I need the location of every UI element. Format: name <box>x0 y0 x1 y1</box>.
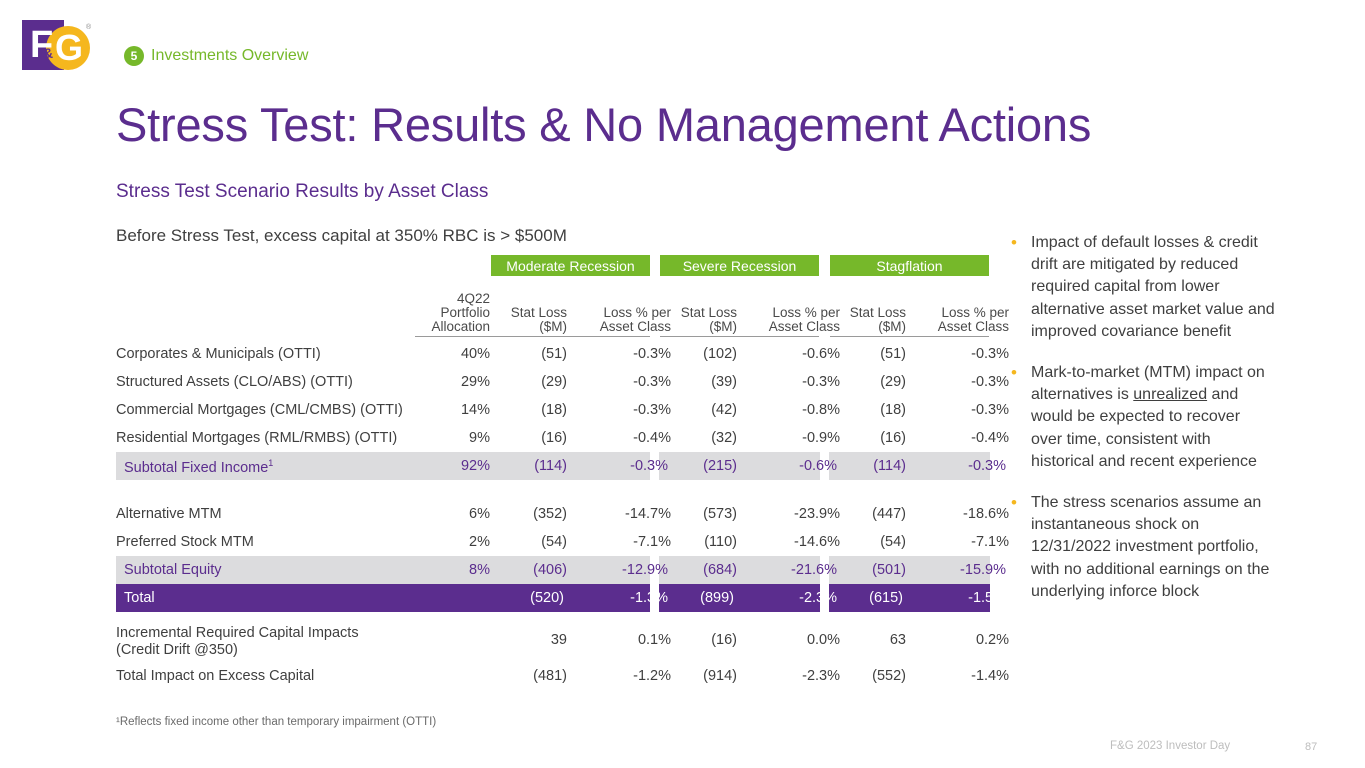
cell-allocation: 40% <box>407 346 490 362</box>
row-spacer <box>116 480 989 500</box>
cell-losspct-1: -0.4% <box>571 430 671 446</box>
statloss-line-1: Stat Loss <box>833 306 906 320</box>
cell-losspct-3: -0.4% <box>909 430 1009 446</box>
cell-statloss-2: (102) <box>664 346 737 362</box>
cell-losspct-3: -1.5% <box>909 590 1009 606</box>
list-item: • Impact of default losses & credit drif… <box>1005 232 1275 343</box>
cell-statloss-3: (51) <box>833 346 906 362</box>
row-label: Alternative MTM <box>116 506 222 522</box>
bullet-dot-icon: • <box>1011 492 1017 514</box>
row-spacer <box>116 612 989 626</box>
cell-losspct-3: -1.4% <box>909 668 1009 684</box>
cell-losspct-1: -0.3% <box>571 458 671 474</box>
row-label-text: Subtotal Fixed Income <box>124 460 268 476</box>
cell-losspct-2: -0.6% <box>740 346 840 362</box>
column-header-allocation: 4Q22 Portfolio Allocation <box>417 292 490 334</box>
cell-statloss-3: (114) <box>833 458 906 474</box>
lede-text: Before Stress Test, excess capital at 35… <box>116 226 567 246</box>
cell-statloss-2: (684) <box>664 562 737 578</box>
registered-trademark-icon: ® <box>86 24 91 31</box>
row-label: Preferred Stock MTM <box>116 534 254 550</box>
cell-statloss-1: (481) <box>494 668 567 684</box>
cell-statloss-1: (520) <box>494 590 567 606</box>
header-rule-3 <box>830 336 989 337</box>
row-label: Total Impact on Excess Capital <box>116 668 314 684</box>
cell-losspct-1: -1.2% <box>571 668 671 684</box>
cell-statloss-2: (16) <box>664 632 737 648</box>
page-title: Stress Test: Results & No Management Act… <box>116 97 1091 152</box>
cell-statloss-3: (447) <box>833 506 906 522</box>
row-label-line-1: Incremental Required Capital Impacts <box>116 625 359 642</box>
cell-losspct-1: -1.3% <box>571 590 671 606</box>
cell-losspct-2: -0.3% <box>740 374 840 390</box>
cell-losspct-2: 0.0% <box>740 632 840 648</box>
cell-statloss-1: (16) <box>494 430 567 446</box>
row-label: Subtotal Equity <box>124 562 222 578</box>
bullet-text-underlined: unrealized <box>1133 386 1207 403</box>
cell-statloss-1: (54) <box>494 534 567 550</box>
table-row-incremental-capital: Incremental Required Capital Impacts (Cr… <box>116 626 989 662</box>
cell-losspct-1: -0.3% <box>571 402 671 418</box>
table-row: Commercial Mortgages (CML/CMBS) (OTTI) 1… <box>116 396 989 424</box>
cell-statloss-2: (39) <box>664 374 737 390</box>
bullet-text-part-1: Impact of default losses & credit drift … <box>1031 234 1275 340</box>
fg-logo: F G & ® <box>22 20 92 70</box>
cell-statloss-3: (29) <box>833 374 906 390</box>
scenario-header-severe: Severe Recession <box>660 255 819 276</box>
header-rule-2 <box>660 336 819 337</box>
row-band-group-1 <box>116 584 650 612</box>
cell-statloss-3: 63 <box>833 632 906 648</box>
cell-statloss-1: (51) <box>494 346 567 362</box>
cell-statloss-2: (899) <box>664 590 737 606</box>
column-header-statloss-2: Stat Loss ($M) <box>664 306 737 334</box>
section-badge: 5 Investments Overview <box>124 46 308 66</box>
column-header-statloss-3: Stat Loss ($M) <box>833 306 906 334</box>
cell-statloss-1: (114) <box>494 458 567 474</box>
table-row: Structured Assets (CLO/ABS) (OTTI) 29% (… <box>116 368 989 396</box>
cell-losspct-3: -0.3% <box>909 458 1009 474</box>
cell-allocation: 8% <box>407 562 490 578</box>
row-label: Commercial Mortgages (CML/CMBS) (OTTI) <box>116 402 403 418</box>
cell-allocation: 9% <box>407 430 490 446</box>
logo-letter-g: G <box>55 29 83 67</box>
cell-losspct-1: -0.3% <box>571 346 671 362</box>
cell-losspct-3: 0.2% <box>909 632 1009 648</box>
column-header-statloss-1: Stat Loss ($M) <box>494 306 567 334</box>
slide: F G & ® 5 Investments Overview Stress Te… <box>0 0 1365 768</box>
row-label: Structured Assets (CLO/ABS) (OTTI) <box>116 374 353 390</box>
cell-losspct-3: -18.6% <box>909 506 1009 522</box>
page-subtitle: Stress Test Scenario Results by Asset Cl… <box>116 181 488 203</box>
column-header-losspct-2: Loss % per Asset Class <box>740 306 840 334</box>
cell-losspct-2: -0.9% <box>740 430 840 446</box>
cell-statloss-3: (18) <box>833 402 906 418</box>
list-item: • The stress scenarios assume an instant… <box>1005 492 1275 603</box>
cell-allocation: 29% <box>407 374 490 390</box>
column-header-losspct-3: Loss % per Asset Class <box>909 306 1009 334</box>
footnote-marker: 1 <box>268 458 273 468</box>
footer-text: F&G 2023 Investor Day <box>1110 740 1230 752</box>
losspct-line-2: Asset Class <box>740 320 840 334</box>
allocation-line-2: Portfolio <box>417 306 490 320</box>
cell-losspct-3: -7.1% <box>909 534 1009 550</box>
cell-statloss-2: (914) <box>664 668 737 684</box>
losspct-line-1: Loss % per <box>909 306 1009 320</box>
footer-page-number: 87 <box>1305 741 1317 753</box>
row-label: Residential Mortgages (RML/RMBS) (OTTI) <box>116 430 397 446</box>
cell-losspct-3: -15.9% <box>909 562 1009 578</box>
cell-losspct-2: -2.3% <box>740 590 840 606</box>
cell-statloss-1: (29) <box>494 374 567 390</box>
losspct-line-2: Asset Class <box>909 320 1009 334</box>
cell-statloss-3: (501) <box>833 562 906 578</box>
footnote: ¹Reflects fixed income other than tempor… <box>116 716 436 728</box>
statloss-line-2: ($M) <box>664 320 737 334</box>
cell-statloss-1: (352) <box>494 506 567 522</box>
table-row-total: Total (520) -1.3% (899) -2.3% (615) -1.5… <box>116 584 989 612</box>
table-row-subtotal-fixed-income: Subtotal Fixed Income1 92% (114) -0.3% (… <box>116 452 989 480</box>
table-row-subtotal-equity: Subtotal Equity 8% (406) -12.9% (684) -2… <box>116 556 989 584</box>
table-row-total-impact: Total Impact on Excess Capital (481) -1.… <box>116 662 989 690</box>
cell-allocation: 14% <box>407 402 490 418</box>
statloss-line-1: Stat Loss <box>664 306 737 320</box>
cell-statloss-1: (406) <box>494 562 567 578</box>
stress-test-table: Moderate Recession Severe Recession Stag… <box>116 255 989 690</box>
cell-statloss-3: (16) <box>833 430 906 446</box>
insights-list: • Impact of default losses & credit drif… <box>1005 232 1275 622</box>
cell-statloss-2: (215) <box>664 458 737 474</box>
cell-losspct-1: -0.3% <box>571 374 671 390</box>
statloss-line-1: Stat Loss <box>494 306 567 320</box>
column-header-row: 4Q22 Portfolio Allocation Stat Loss ($M)… <box>116 280 989 334</box>
column-header-losspct-1: Loss % per Asset Class <box>571 306 671 334</box>
cell-losspct-3: -0.3% <box>909 374 1009 390</box>
cell-statloss-3: (54) <box>833 534 906 550</box>
statloss-line-2: ($M) <box>494 320 567 334</box>
scenario-header-moderate: Moderate Recession <box>491 255 650 276</box>
losspct-line-1: Loss % per <box>571 306 671 320</box>
cell-statloss-3: (615) <box>833 590 906 606</box>
cell-losspct-1: -7.1% <box>571 534 671 550</box>
cell-losspct-2: -2.3% <box>740 668 840 684</box>
cell-statloss-2: (42) <box>664 402 737 418</box>
table-row: Alternative MTM 6% (352) -14.7% (573) -2… <box>116 500 989 528</box>
cell-losspct-2: -14.6% <box>740 534 840 550</box>
section-number: 5 <box>124 46 144 66</box>
header-rule-1 <box>415 336 650 337</box>
table-row: Residential Mortgages (RML/RMBS) (OTTI) … <box>116 424 989 452</box>
cell-statloss-2: (573) <box>664 506 737 522</box>
cell-losspct-3: -0.3% <box>909 346 1009 362</box>
row-label: Total <box>124 590 155 606</box>
losspct-line-1: Loss % per <box>740 306 840 320</box>
section-label: Investments Overview <box>151 47 308 65</box>
cell-losspct-3: -0.3% <box>909 402 1009 418</box>
scenario-header-row: Moderate Recession Severe Recession Stag… <box>116 255 989 276</box>
logo-ampersand: & <box>43 45 53 61</box>
statloss-line-2: ($M) <box>833 320 906 334</box>
cell-losspct-1: 0.1% <box>571 632 671 648</box>
cell-statloss-1: 39 <box>494 632 567 648</box>
list-item: • Mark-to-market (MTM) impact on alterna… <box>1005 362 1275 473</box>
table-row: Preferred Stock MTM 2% (54) -7.1% (110) … <box>116 528 989 556</box>
allocation-line-3: Allocation <box>417 320 490 334</box>
table-row: Corporates & Municipals (OTTI) 40% (51) … <box>116 340 989 368</box>
row-label: Corporates & Municipals (OTTI) <box>116 346 321 362</box>
cell-losspct-1: -14.7% <box>571 506 671 522</box>
scenario-header-stagflation: Stagflation <box>830 255 989 276</box>
row-label: Subtotal Fixed Income1 <box>124 458 273 476</box>
cell-losspct-2: -0.6% <box>740 458 840 474</box>
bullet-dot-icon: • <box>1011 232 1017 254</box>
row-label: Incremental Required Capital Impacts (Cr… <box>116 625 359 659</box>
bullet-dot-icon: • <box>1011 362 1017 384</box>
losspct-line-2: Asset Class <box>571 320 671 334</box>
cell-allocation: 2% <box>407 534 490 550</box>
row-label-line-2: (Credit Drift @350) <box>116 642 359 659</box>
cell-allocation: 6% <box>407 506 490 522</box>
bullet-text-part-1: The stress scenarios assume an instantan… <box>1031 494 1269 600</box>
allocation-line-1: 4Q22 <box>417 292 490 306</box>
cell-losspct-1: -12.9% <box>571 562 671 578</box>
cell-statloss-2: (110) <box>664 534 737 550</box>
cell-losspct-2: -23.9% <box>740 506 840 522</box>
cell-statloss-1: (18) <box>494 402 567 418</box>
cell-allocation: 92% <box>407 458 490 474</box>
cell-losspct-2: -0.8% <box>740 402 840 418</box>
cell-losspct-2: -21.6% <box>740 562 840 578</box>
cell-statloss-3: (552) <box>833 668 906 684</box>
cell-statloss-2: (32) <box>664 430 737 446</box>
